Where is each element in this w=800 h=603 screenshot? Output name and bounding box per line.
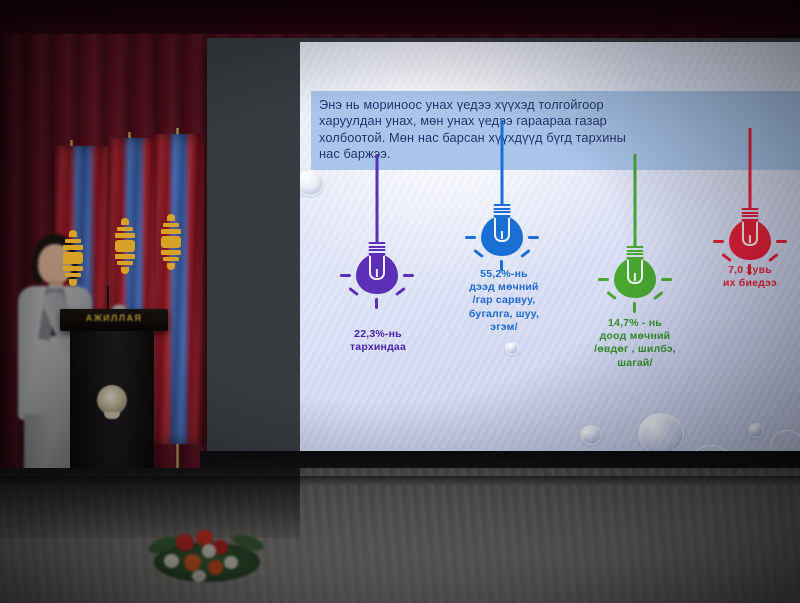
bulb-label-line-3: /гар сарвуу, [446, 294, 562, 307]
flag-mongolia-3 [154, 134, 204, 444]
flower-white [192, 570, 206, 582]
lightbulb-green [605, 154, 665, 290]
bulb-cord-green [634, 154, 637, 246]
bulb-label-line-4: шагай/ [572, 357, 698, 370]
bulb-label-line-1: 55,2%-нь [446, 268, 562, 281]
bulb-label-line-3: /өвдөг , шилбэ, [572, 343, 698, 356]
bulb-label-line-1: 7,0 хувь [696, 264, 800, 277]
flower-arrangement [148, 520, 268, 594]
bulb-ray [528, 236, 539, 239]
bulb-glass-purple [356, 254, 398, 294]
droplet-decoration [580, 425, 602, 445]
bulb-label-line-2: доод мөчний [572, 330, 698, 343]
bulb-label-blue: 55,2%-нь дээд мөчний /гар сарвуу, бугалг… [446, 268, 562, 334]
lightbulb-purple [347, 154, 407, 290]
bulb-cord-red [749, 128, 752, 208]
podium-top: АЖИЛЛАЯ [60, 309, 168, 331]
lightbulb-blue [472, 120, 532, 256]
bulb-label-line-2: дээд мөчний [446, 281, 562, 294]
bulb-filament-red [742, 222, 758, 246]
bulb-label-purple: 22,3%-нь тархиндаа [322, 328, 434, 354]
state-emblem-icon [97, 385, 127, 415]
droplet-decoration [748, 423, 764, 438]
presentation-slide: Энэ нь мориноос унах үедээ хүүхэд толгой… [300, 42, 800, 486]
bulb-ray [403, 274, 414, 277]
soyombo-icon-3 [160, 212, 182, 272]
soyombo-icon-2 [114, 216, 136, 276]
bulb-glass-blue [481, 216, 523, 256]
flower-orange [184, 554, 201, 571]
bulb-label-green: 14,7% - нь доод мөчний /өвдөг , шилбэ, ш… [572, 317, 698, 370]
bulb-ray [375, 298, 378, 309]
bulb-ray [340, 274, 351, 277]
lightbulb-red [720, 128, 780, 264]
bulb-glass-green [614, 258, 656, 298]
bulb-label-line-1: 22,3%-нь [322, 328, 434, 341]
ceiling-shadow [0, 0, 800, 34]
bulb-filament-purple [369, 256, 385, 280]
slide-text-line-1: Энэ нь мориноос унах үедээ хүүхэд толгой… [319, 97, 800, 113]
droplet-decoration [638, 413, 684, 455]
flower-red [176, 534, 194, 551]
bulb-label-line-1: 14,7% - нь [572, 317, 698, 330]
bulb-ray [721, 253, 732, 262]
bulb-label-line-2: тархиндаа [322, 341, 434, 354]
flower-orange [208, 560, 223, 575]
bulb-ray [768, 253, 779, 262]
soyombo-icon-1 [62, 228, 84, 288]
bulb-label-line-2: их биедээ [696, 277, 800, 290]
bulb-ray [661, 278, 672, 281]
flower-white [164, 554, 179, 568]
bulb-ray [465, 236, 476, 239]
bulb-filament-green [627, 260, 643, 284]
bulb-ray [713, 240, 724, 243]
bulb-label-line-5: эгэм/ [446, 321, 562, 334]
bulb-cord-purple [376, 154, 379, 242]
bulb-label-line-4: бугалга, шуу, [446, 308, 562, 321]
screenshot-root: Энэ нь мориноос унах үедээ хүүхэд толгой… [0, 0, 800, 603]
bulb-cord-blue [501, 120, 504, 204]
bulb-ray [776, 240, 787, 243]
bulb-ray [633, 302, 636, 313]
flower-white [202, 544, 216, 558]
bulb-glass-red [729, 220, 771, 260]
bulb-ray [598, 278, 609, 281]
droplet-decoration [505, 342, 519, 355]
flower-white [224, 556, 238, 569]
bulb-label-red: 7,0 хувь их биедээ [696, 264, 800, 290]
projector-screen: Энэ нь мориноос унах үедээ хүүхэд толгой… [207, 38, 800, 451]
bulb-filament-blue [494, 218, 510, 242]
podium-nameplate: АЖИЛЛАЯ [69, 313, 159, 324]
